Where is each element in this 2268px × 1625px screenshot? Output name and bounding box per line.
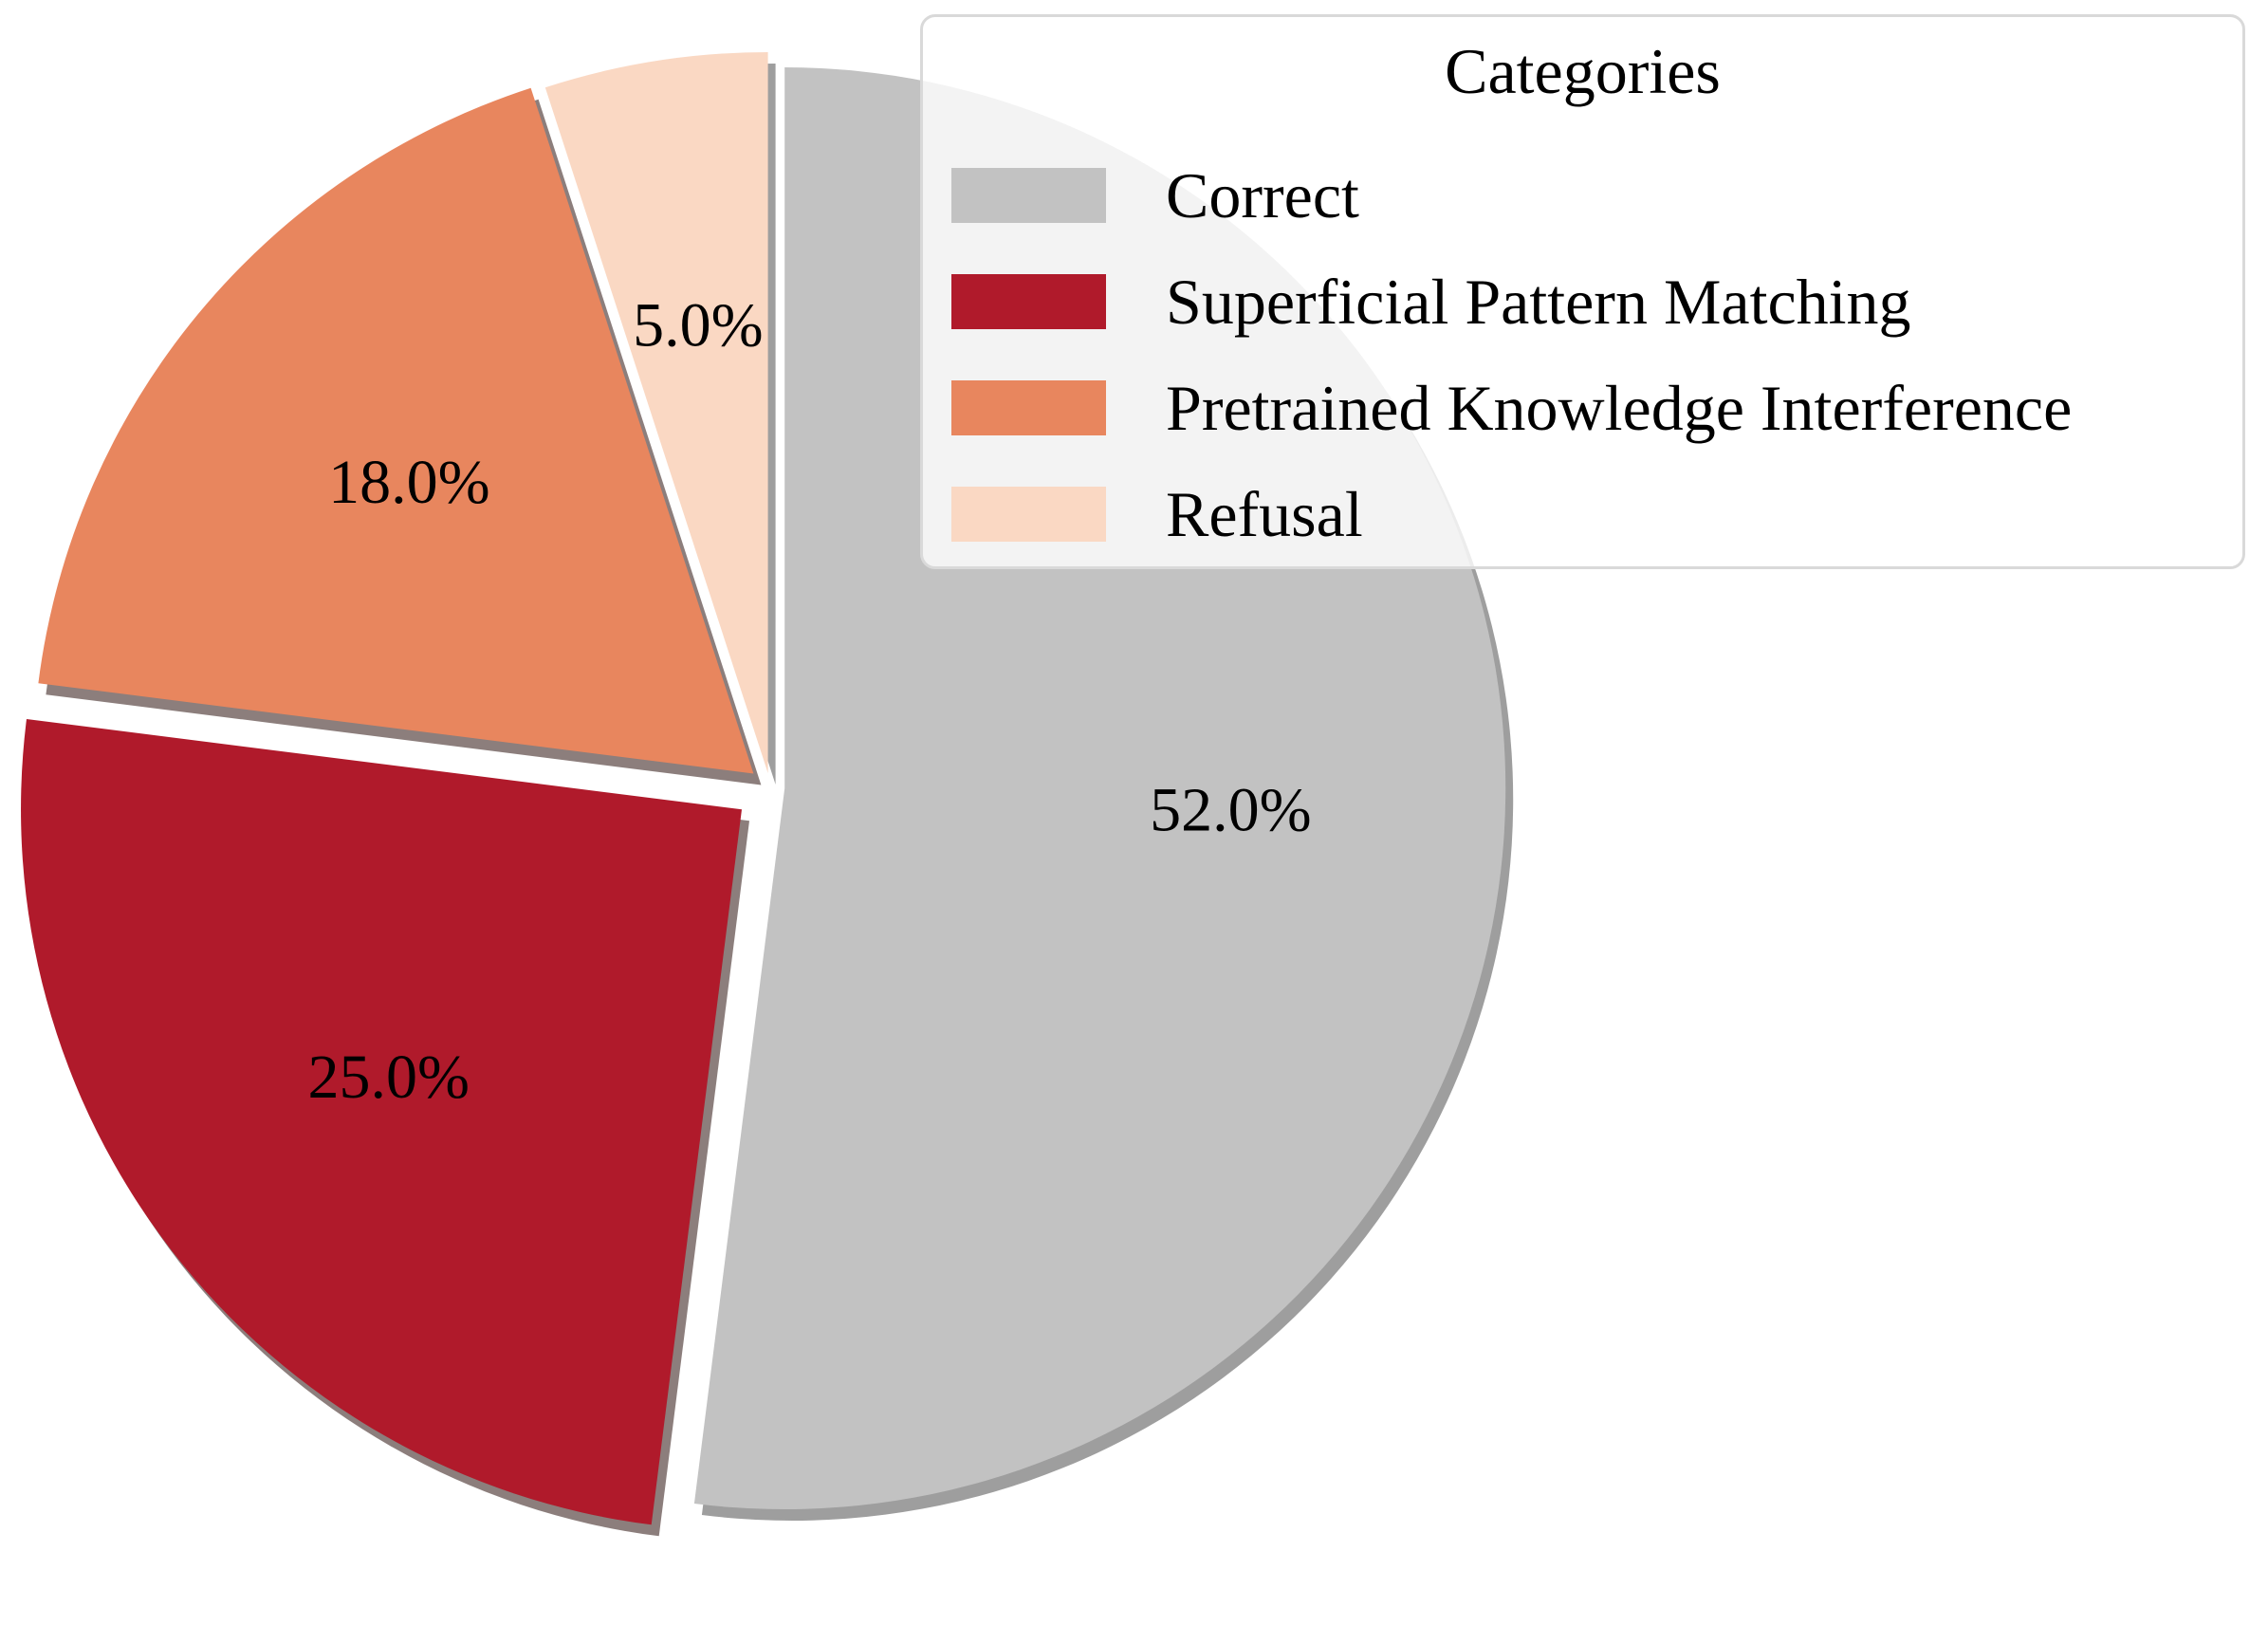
slice-label-pretrained-knowledge-interference: 18.0% (328, 448, 489, 517)
legend-label-superficial-pattern-matching: Superficial Pattern Matching (1166, 268, 1911, 336)
legend: Categories Correct Superficial Pattern M… (920, 14, 2245, 569)
legend-entry-pretrained-knowledge-interference[interactable]: Pretrained Knowledge Interference (951, 355, 2223, 461)
legend-swatch-icon-correct (951, 168, 1106, 223)
pie-chart-figure: 52.0% 25.0% 18.0% 5.0% Categories Correc… (0, 0, 2268, 1625)
legend-swatch-icon-refusal (951, 487, 1106, 542)
legend-title: Categories (923, 30, 2242, 112)
legend-entry-correct[interactable]: Correct (951, 142, 2223, 249)
legend-swatch-icon-superficial-pattern-matching (951, 274, 1106, 329)
slice-label-correct: 52.0% (1150, 776, 1311, 845)
legend-label-refusal: Refusal (1166, 480, 1363, 548)
slice-superficial-pattern-matching[interactable] (21, 719, 742, 1524)
slice-label-refusal: 5.0% (633, 291, 763, 360)
legend-label-pretrained-knowledge-interference: Pretrained Knowledge Interference (1166, 374, 2072, 442)
legend-entry-superficial-pattern-matching[interactable]: Superficial Pattern Matching (951, 249, 2223, 355)
legend-entry-refusal[interactable]: Refusal (951, 461, 2223, 567)
slice-label-superficial-pattern-matching: 25.0% (307, 1043, 469, 1112)
legend-label-correct: Correct (1166, 161, 1359, 230)
legend-swatch-icon-pretrained-knowledge-interference (951, 380, 1106, 435)
legend-entries: Correct Superficial Pattern Matching Pre… (951, 142, 2223, 567)
